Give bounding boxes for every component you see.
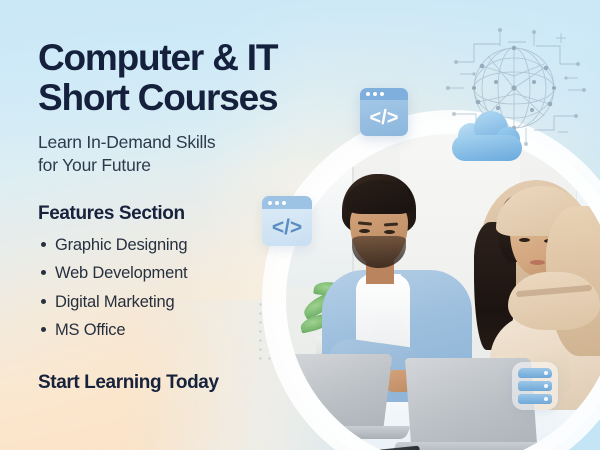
headline-line-2: Short Courses: [38, 78, 338, 118]
features-section-title: Features Section: [38, 203, 338, 225]
headline-line-1: Computer & IT: [38, 37, 277, 78]
subheadline-line-1: Learn In-Demand Skills: [38, 132, 216, 152]
code-glyph: </>: [360, 100, 408, 136]
subheadline: Learn In-Demand Skills for Your Future: [38, 131, 338, 177]
female-scarf-wrap: [508, 272, 600, 330]
male-eye-left: [359, 229, 370, 233]
server-bar: [518, 394, 552, 404]
list-item: MS Office: [38, 316, 338, 344]
list-item: Web Development: [38, 259, 338, 287]
features-list: Graphic Designing Web Development Digita…: [38, 231, 338, 345]
course-promo-banner: </> </> Computer & IT Short Courses Lear…: [0, 0, 600, 450]
female-lips: [530, 260, 545, 265]
cloud-icon: [452, 115, 522, 161]
list-item: Digital Marketing: [38, 288, 338, 316]
server-bar: [518, 381, 552, 391]
server-stack-icon: [512, 362, 558, 410]
call-to-action-text: Start Learning Today: [38, 372, 338, 394]
page-title: Computer & IT Short Courses: [38, 38, 338, 118]
code-window-titlebar: [360, 88, 408, 100]
server-bar: [518, 368, 552, 378]
male-eye-right: [384, 230, 395, 234]
banner-content: Computer & IT Short Courses Learn In-Dem…: [38, 38, 338, 394]
female-eye-left: [519, 238, 530, 242]
code-window-icon: </>: [360, 88, 408, 136]
list-item: Graphic Designing: [38, 231, 338, 259]
subheadline-line-2: for Your Future: [38, 154, 338, 177]
male-beard: [352, 236, 406, 268]
